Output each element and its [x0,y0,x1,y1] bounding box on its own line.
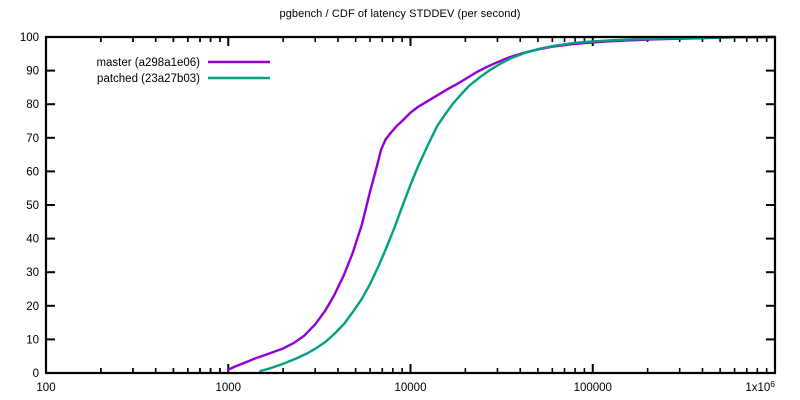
y-tick-label: 10 [26,334,39,346]
legend-label-1: patched (23a27b03) [97,73,200,85]
x-tick-label: 10000 [395,382,427,394]
legend-label-0: master (a298a1e06) [96,57,200,69]
chart-plot-area: 1001000100001000001x106 0102030405060708… [0,0,800,400]
x-tick-label: 1000 [215,382,241,394]
y-tick-label: 70 [26,133,39,145]
y-axis-tick-labels: 0102030405060708090100 [20,32,39,380]
y-tick-label: 0 [33,368,39,380]
y-tick-label: 90 [26,66,39,78]
x-tick-label: 100 [36,382,55,394]
y-tick-label: 40 [26,234,39,246]
series-line-1 [260,37,775,371]
y-axis-major-ticks [46,37,775,373]
chart-figure: pgbench / CDF of latency STDDEV (per sec… [0,0,800,400]
y-tick-label: 20 [26,301,39,313]
data-series-group [228,37,775,371]
y-tick-label: 50 [26,200,39,212]
y-tick-label: 80 [26,99,39,111]
chart-legend: master (a298a1e06)patched (23a27b03) [96,57,270,85]
y-tick-label: 30 [26,267,39,279]
x-tick-label: 1x106 [745,379,775,394]
x-tick-label: 100000 [574,382,612,394]
x-axis-major-ticks [46,37,775,373]
x-axis-minor-ticks [101,37,767,373]
series-line-0 [228,37,775,370]
x-axis-tick-labels: 1001000100001000001x106 [36,379,775,394]
y-tick-label: 100 [20,32,39,44]
axis-frame [46,37,775,373]
y-tick-label: 60 [26,166,39,178]
